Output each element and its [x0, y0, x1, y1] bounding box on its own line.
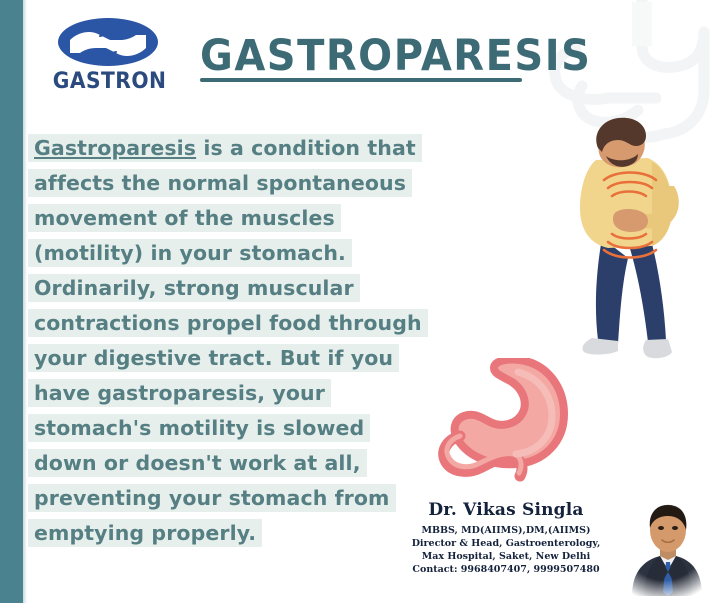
caring-hands-oval-icon — [56, 16, 160, 68]
left-accent-band — [0, 0, 23, 603]
article-first-word: Gastroparesis — [34, 136, 196, 160]
doctor-hospital: Max Hospital, Saket, New Delhi — [398, 550, 614, 563]
article-line: emptying properly. — [34, 516, 438, 551]
article-line: preventing your stomach from — [34, 481, 438, 516]
article-line: Gastroparesis is a condition that — [34, 131, 438, 166]
article-line: contractions propel food through — [34, 306, 438, 341]
doctor-designation: Director & Head, Gastroenterology, — [398, 537, 614, 550]
page-title: GASTROPARESIS — [200, 34, 560, 79]
infographic-poster: GASTRON GASTROPARESIS Gastroparesis is a… — [0, 0, 720, 603]
article-line: your digestive tract. But if you — [34, 341, 438, 376]
article-line: stomach's motility is slowed — [34, 411, 438, 446]
man-holding-stomach-in-pain-illustration — [556, 112, 716, 370]
article-line: Ordinarily, strong muscular — [34, 271, 438, 306]
brand-logo: GASTRON — [48, 16, 168, 93]
doctor-credit-block: Dr. Vikas Singla MBBS, MD(AIIMS),DM,(AII… — [398, 500, 614, 576]
accent-band-edge — [23, 0, 27, 603]
brand-wordmark: GASTRON — [53, 71, 163, 93]
article-line: affects the normal spontaneous — [34, 166, 438, 201]
article-line: (motility) in your stomach. — [34, 236, 438, 271]
doctor-name: Dr. Vikas Singla — [398, 500, 614, 521]
stomach-anatomy-illustration — [424, 358, 596, 506]
article-line: down or doesn't work at all, — [34, 446, 438, 481]
doctor-portrait-photo — [614, 500, 714, 596]
article-line: movement of the muscles — [34, 201, 438, 236]
doctor-qualifications: MBBS, MD(AIIMS),DM,(AIIMS) — [398, 524, 614, 537]
article-line: have gastroparesis, your — [34, 376, 438, 411]
article-body: Gastroparesis is a condition that affect… — [34, 131, 438, 551]
page-title-block: GASTROPARESIS — [200, 34, 560, 82]
article-line-rest: is a condition that — [196, 136, 416, 160]
doctor-contact: Contact: 9968407407, 9999507480 — [398, 563, 614, 576]
